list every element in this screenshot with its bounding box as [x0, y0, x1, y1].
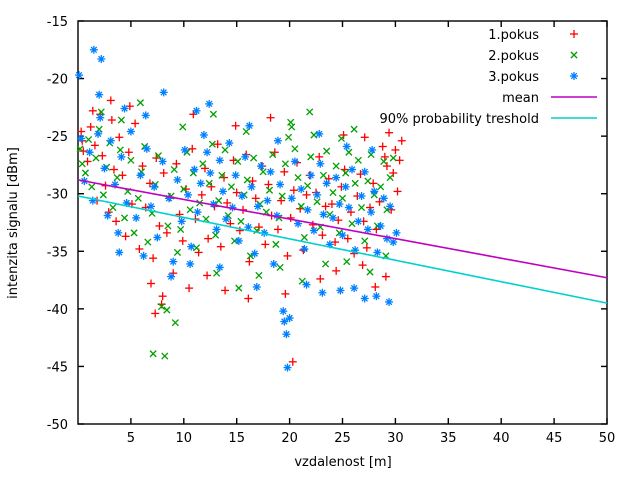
- data-point-asterisk: [323, 179, 331, 187]
- data-point-asterisk: [385, 298, 393, 306]
- y-tick-label: -50: [47, 418, 68, 433]
- data-point-asterisk: [282, 330, 290, 338]
- y-tick-label: -20: [47, 73, 68, 88]
- x-tick-label: 20: [281, 431, 298, 446]
- data-point-asterisk: [173, 176, 181, 184]
- data-point-asterisk: [291, 157, 299, 165]
- data-point-asterisk: [270, 260, 278, 268]
- x-tick-label: 45: [546, 431, 563, 446]
- y-tick-label: -35: [47, 245, 68, 260]
- data-point-asterisk: [342, 183, 350, 191]
- data-point-asterisk: [316, 160, 324, 168]
- x-tick-label: 10: [176, 431, 193, 446]
- data-point-asterisk: [377, 222, 385, 230]
- data-point-asterisk: [276, 181, 284, 189]
- data-point-asterisk: [253, 283, 261, 291]
- x-tick-label: 15: [228, 431, 245, 446]
- x-tick-label: 35: [440, 431, 457, 446]
- data-point-asterisk: [329, 214, 337, 222]
- y-axis-label: intenzita signalu [dBm]: [6, 147, 21, 299]
- data-point-asterisk: [232, 171, 240, 179]
- data-point-asterisk: [367, 208, 375, 216]
- data-point-asterisk: [361, 168, 369, 176]
- legend-label-2: 2.pokus: [488, 49, 539, 64]
- x-tick-label: 25: [334, 431, 351, 446]
- x-axis-label: vzdalenost [m]: [294, 455, 391, 470]
- data-point-asterisk: [206, 169, 214, 177]
- data-point-asterisk: [267, 168, 275, 176]
- data-point-asterisk: [304, 206, 312, 214]
- data-point-asterisk: [336, 286, 344, 294]
- data-point-asterisk: [319, 210, 327, 218]
- data-point-asterisk: [307, 171, 315, 179]
- figure-background: [0, 0, 640, 480]
- data-point-asterisk: [570, 72, 578, 80]
- data-point-asterisk: [315, 130, 323, 138]
- data-point-asterisk: [303, 281, 311, 289]
- data-point-asterisk: [332, 174, 340, 182]
- legend-label-4: mean: [502, 91, 539, 106]
- data-point-asterisk: [104, 212, 112, 220]
- y-tick-label: -25: [47, 130, 68, 145]
- data-point-asterisk: [372, 292, 380, 300]
- data-point-asterisk: [257, 162, 265, 170]
- plot-canvas: 5101520253035404550-50-45-40-35-30-25-20…: [0, 0, 640, 480]
- data-point-asterisk: [197, 179, 205, 187]
- data-point-asterisk: [169, 258, 177, 266]
- data-point-asterisk: [216, 263, 224, 271]
- data-point-asterisk: [361, 294, 369, 302]
- data-point-asterisk: [310, 227, 318, 235]
- y-tick-label: -15: [47, 15, 68, 30]
- data-point-asterisk: [280, 318, 288, 326]
- data-point-asterisk: [392, 229, 400, 237]
- data-point-asterisk: [348, 166, 356, 174]
- y-tick-label: -40: [47, 303, 68, 318]
- data-point-asterisk: [318, 289, 326, 297]
- data-point-asterisk: [279, 307, 287, 315]
- data-point-asterisk: [283, 364, 291, 372]
- data-point-asterisk: [373, 248, 381, 256]
- data-point-asterisk: [216, 156, 224, 164]
- data-point-asterisk: [159, 157, 167, 165]
- x-tick-label: 40: [493, 431, 510, 446]
- data-point-asterisk: [339, 231, 347, 239]
- y-tick-label: -30: [47, 188, 68, 203]
- legend-label-1: 1.pokus: [488, 28, 539, 43]
- data-point-asterisk: [167, 273, 175, 281]
- legend-label-3: 3.pokus: [488, 70, 539, 85]
- y-tick-label: -45: [47, 360, 68, 375]
- scatter-plot-figure: 5101520253035404550-50-45-40-35-30-25-20…: [0, 0, 640, 480]
- data-point-asterisk: [251, 250, 259, 258]
- data-point-asterisk: [354, 217, 362, 225]
- data-point-asterisk: [350, 284, 358, 292]
- data-point-asterisk: [132, 214, 140, 222]
- legend-label-5: 90% probability treshold: [379, 112, 539, 127]
- x-tick-label: 30: [387, 431, 404, 446]
- data-point-asterisk: [286, 314, 294, 322]
- data-point-asterisk: [136, 171, 144, 179]
- x-tick-label: 5: [127, 431, 135, 446]
- data-point-asterisk: [194, 208, 202, 216]
- x-tick-label: 50: [599, 431, 616, 446]
